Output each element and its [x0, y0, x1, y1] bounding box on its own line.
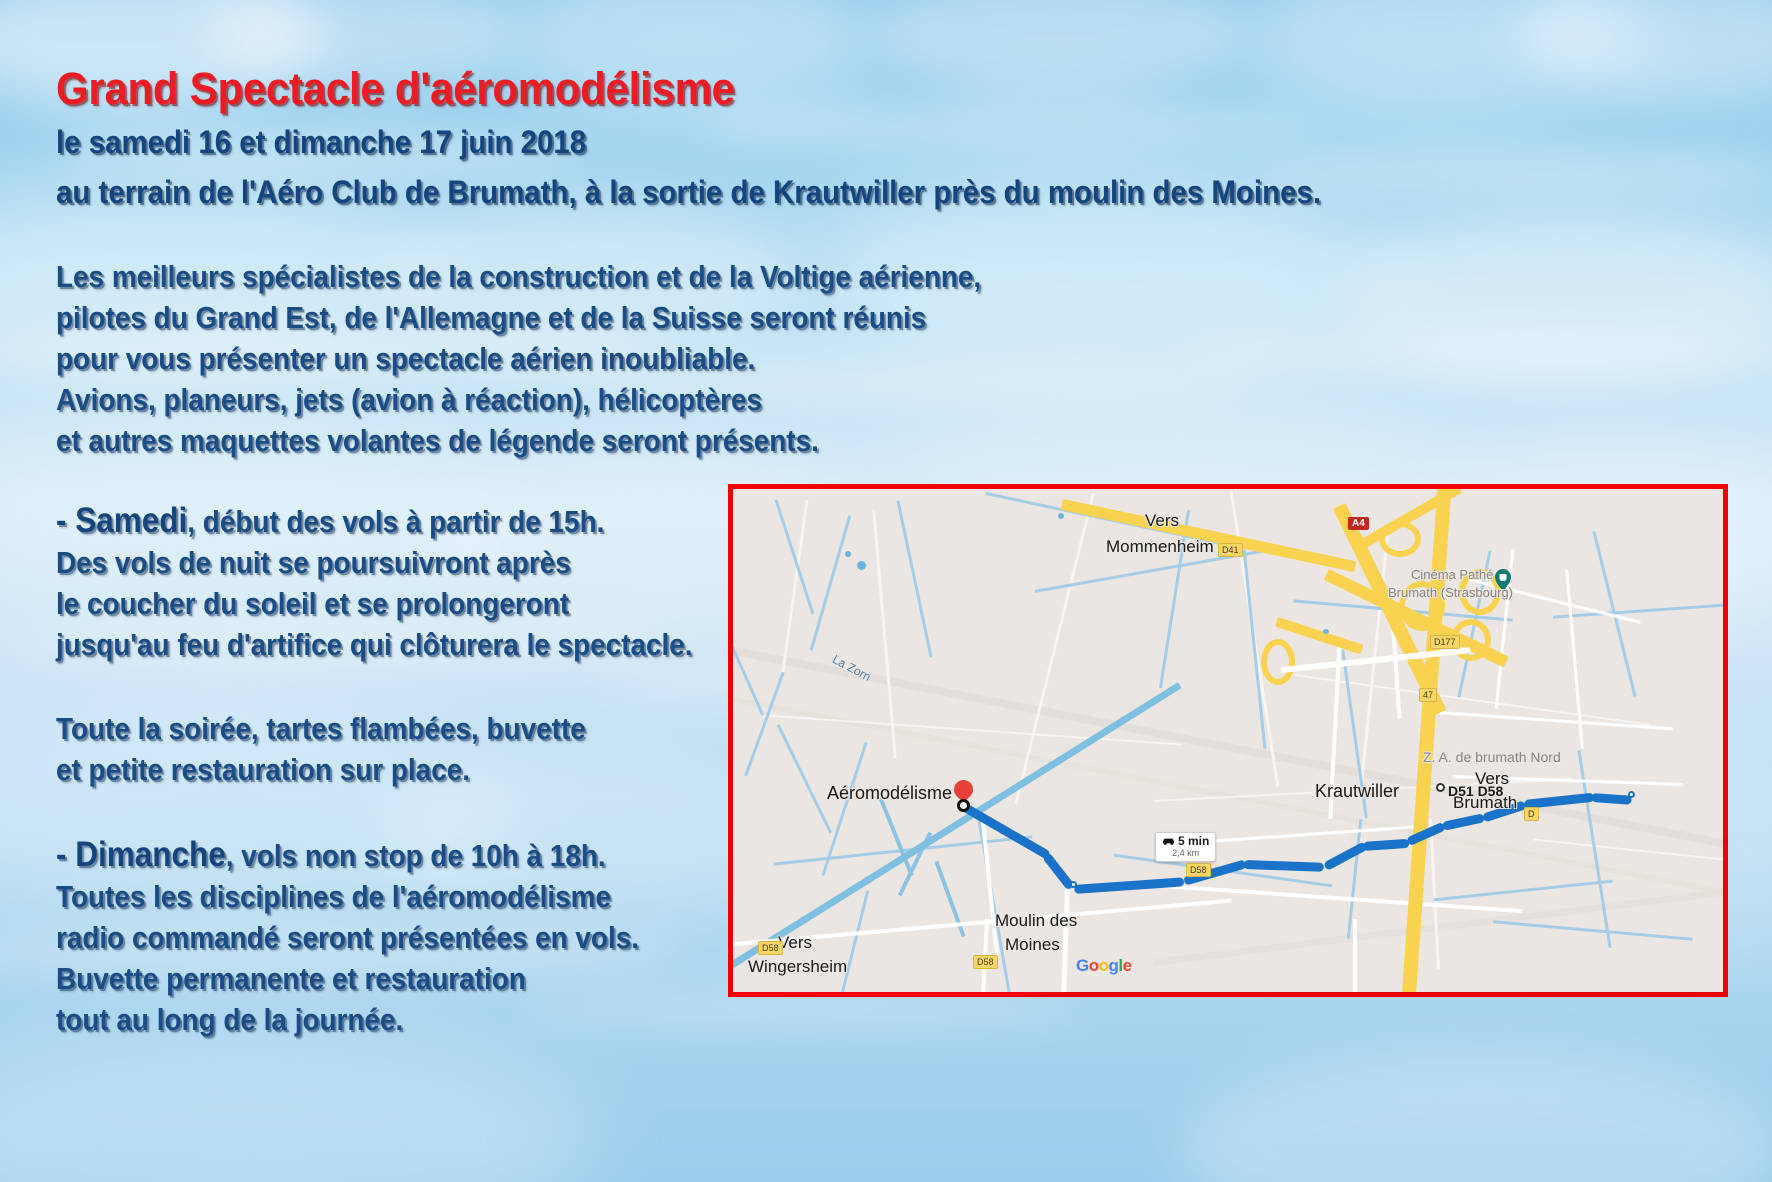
label-cinema-line1: Cinéma Pathé — [1411, 567, 1493, 582]
label-moulin-des-moines-line2: Moines — [1005, 935, 1060, 955]
google-logo-o1: o — [1089, 956, 1099, 975]
pin-origin-dot-icon — [957, 799, 970, 812]
sunday-line-2: Toutes les disciplines de l'aéromodélism… — [56, 878, 611, 916]
map-land — [733, 489, 1723, 992]
map-canvas[interactable]: 5 min 2,4 km Vers Mommenheim Cinéma Path… — [733, 489, 1723, 992]
shield-d58-west: D58 — [758, 941, 783, 955]
map-highway-loop-1 — [1379, 521, 1421, 557]
saturday-line-4: jusqu'au feu d'artifice qui clôturera le… — [56, 626, 693, 664]
sunday-line-3: radio commandé seront présentées en vols… — [56, 919, 639, 957]
map-water-dot-2 — [857, 561, 866, 570]
route-duration-badge[interactable]: 5 min 2,4 km — [1155, 832, 1216, 862]
location-map[interactable]: 5 min 2,4 km Vers Mommenheim Cinéma Path… — [728, 484, 1728, 997]
route-endpoint — [1628, 791, 1635, 798]
d51-junction-icon — [1436, 783, 1445, 792]
route-duration-text: 5 min — [1178, 836, 1209, 847]
shield-a4: A4 — [1348, 517, 1369, 530]
saturday-line-3: le coucher du soleil et se prolongeront — [56, 585, 569, 623]
label-moulin-des-moines-line1: Moulin des — [995, 911, 1077, 931]
shield-d58-south: D58 — [973, 955, 998, 969]
route-waypoint — [1070, 881, 1077, 888]
saturday-first-line: , début des vols à partir de 15h. — [187, 504, 604, 539]
label-vers-wingersheim-line2: Wingersheim — [748, 957, 847, 977]
page-title: Grand Spectacle d'aéromodélisme — [56, 63, 735, 115]
intro-line-4: Avions, planeurs, jets (avion à réaction… — [56, 381, 762, 419]
label-vers-mommenheim-line2: Mommenheim — [1106, 537, 1214, 557]
saturday-heading-line: - Samedi, début des vols à partir de 15h… — [56, 502, 604, 541]
shield-d-small: D — [1524, 807, 1539, 821]
evening-line-1: Toute la soirée, tartes flambées, buvett… — [56, 710, 586, 748]
event-dates: le samedi 16 et dimanche 17 juin 2018 — [56, 124, 586, 161]
intro-line-3: pour vous présenter un spectacle aérien … — [56, 340, 755, 378]
label-za-brumath-nord: Z. A. de brumath Nord — [1423, 749, 1561, 765]
shield-d58-route: D58 — [1186, 863, 1211, 877]
sunday-line-5: tout au long de la journée. — [56, 1001, 403, 1039]
car-icon — [1162, 836, 1175, 847]
google-logo-e: e — [1123, 956, 1132, 975]
label-cinema-line2: Brumath (Strasbourg) — [1388, 585, 1513, 600]
map-water-dot-4 — [1323, 629, 1329, 634]
map-water-dot-1 — [845, 551, 851, 557]
saturday-bullet: - — [56, 501, 75, 540]
label-d51-d58: D51 D58 — [1448, 783, 1503, 799]
shield-d41: D41 — [1218, 543, 1243, 557]
label-vers-wingersheim-line1: Vers — [778, 933, 812, 953]
sunday-heading-line: - Dimanche, vols non stop de 10h à 18h. — [56, 836, 606, 875]
label-vers-mommenheim-line1: Vers — [1145, 511, 1179, 531]
google-logo-o2: o — [1099, 956, 1109, 975]
intro-line-2: pilotes du Grand Est, de l'Allemagne et … — [56, 299, 926, 337]
saturday-line-2: Des vols de nuit se poursuivront après — [56, 544, 571, 582]
map-highway-roundabout — [1261, 639, 1295, 685]
sunday-first-line: , vols non stop de 10h à 18h. — [226, 838, 606, 873]
sunday-line-4: Buvette permanente et restauration — [56, 960, 526, 998]
aeromodelisme-pin[interactable] — [954, 780, 974, 814]
sunday-bullet: - — [56, 835, 75, 874]
sunday-label: Dimanche — [75, 835, 226, 874]
event-location: au terrain de l'Aéro Club de Brumath, à … — [56, 174, 1321, 211]
intro-line-5: et autres maquettes volantes de légende … — [56, 422, 819, 460]
intro-line-1: Les meilleurs spécialistes de la constru… — [56, 258, 981, 296]
shield-47: 47 — [1419, 688, 1437, 702]
google-logo-g2: g — [1109, 956, 1119, 975]
label-aeromodelisme: Aéromodélisme — [827, 783, 952, 804]
saturday-label: Samedi — [75, 501, 187, 540]
map-road-main-7 — [1353, 919, 1357, 992]
google-logo-g1: G — [1076, 956, 1089, 975]
label-krautwiller: Krautwiller — [1315, 781, 1399, 802]
evening-line-2: et petite restauration sur place. — [56, 751, 470, 789]
google-logo: Google — [1076, 956, 1132, 976]
shield-d177: D177 — [1430, 635, 1460, 649]
route-distance-text: 2,4 km — [1162, 848, 1209, 859]
map-water-dot-3 — [1058, 513, 1064, 519]
